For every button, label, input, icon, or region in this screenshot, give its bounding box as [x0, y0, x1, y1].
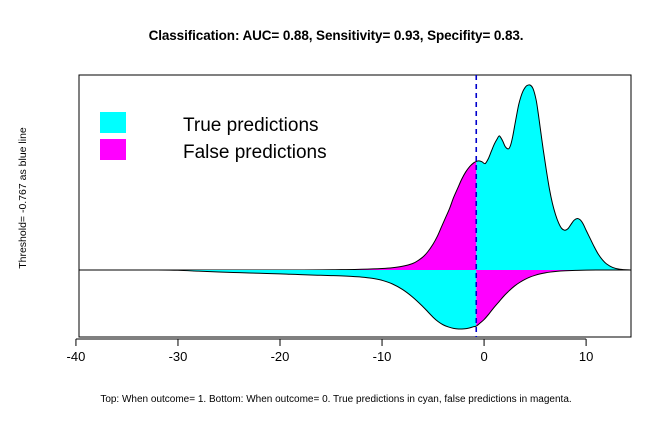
x-axis-tick-label: 10 — [579, 349, 593, 364]
x-axis-ticks — [76, 339, 586, 346]
bottom-panel-density — [79, 270, 631, 329]
x-axis-tick-label: 0 — [480, 349, 487, 364]
bottom-false-predictions-area — [476, 270, 631, 326]
chart-container: Classification: AUC= 0.88, Sensitivity= … — [0, 0, 672, 432]
x-axis-tick-label: -40 — [67, 349, 86, 364]
top-panel-density — [79, 85, 631, 270]
x-axis-tick-label: -10 — [373, 349, 392, 364]
top-false-predictions-area — [79, 161, 476, 270]
x-axis-tick-label: -30 — [169, 349, 188, 364]
bottom-true-predictions-area — [79, 270, 476, 329]
legend-swatch-true-predictions — [100, 112, 126, 133]
x-axis: -40-30-20-10010 — [67, 339, 594, 364]
legend-swatch-false-predictions — [100, 139, 126, 160]
legend: True predictions False predictions — [100, 112, 327, 163]
chart-caption: Top: When outcome= 1. Bottom: When outco… — [0, 394, 672, 405]
top-true-predictions-area — [476, 85, 631, 270]
x-axis-tick-labels: -40-30-20-10010 — [67, 349, 594, 364]
legend-label-true-predictions: True predictions — [183, 115, 319, 136]
legend-label-false-predictions: False predictions — [183, 142, 327, 163]
plot-svg: -40-30-20-10010 True predictions False p… — [0, 0, 672, 432]
bottom-density-outline — [79, 270, 631, 329]
x-axis-tick-label: -20 — [271, 349, 290, 364]
